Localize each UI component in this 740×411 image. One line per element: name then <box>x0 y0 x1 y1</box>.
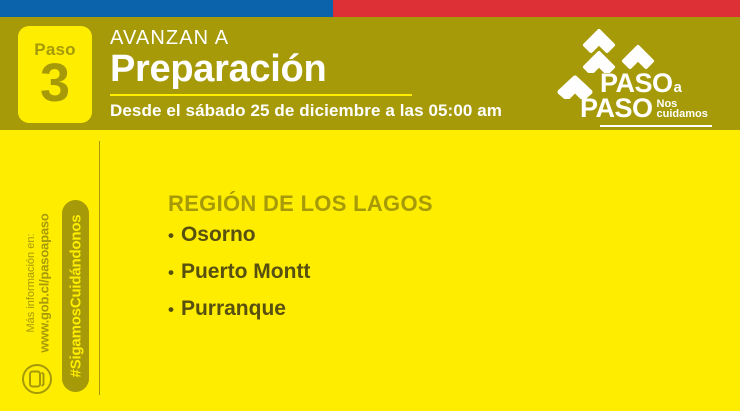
main-content: REGIÓN DE LOS LAGOS • Osorno • Puerto Mo… <box>168 192 688 335</box>
city-name: Osorno <box>181 224 256 245</box>
hashtag-label: #SigamosCuidándonos <box>67 215 84 378</box>
logo-wordmark: PASO a PASO Nos cuidamos <box>558 71 708 121</box>
logo-underline <box>600 125 712 127</box>
hashtag-badge: #SigamosCuidándonos <box>62 200 89 392</box>
rail-vertical-divider <box>99 141 100 395</box>
flag-stripe-blue <box>0 0 333 17</box>
logo-line-two: PASO Nos cuidamos <box>558 96 708 121</box>
paso-a-paso-logo: PASO a PASO Nos cuidamos <box>558 29 718 129</box>
more-info-label: Más información en: <box>25 233 37 332</box>
flag-stripe-red <box>333 0 740 17</box>
logo-paso-bottom: PASO <box>580 96 653 121</box>
paso-a-paso-poster: Paso 3 AVANZAN A Preparación Desde el sá… <box>0 0 740 411</box>
paso-badge-number: 3 <box>40 59 70 109</box>
list-item: • Puerto Montt <box>168 261 688 282</box>
logo-a-connector: a <box>674 80 682 95</box>
header-divider-rule <box>110 94 412 96</box>
page-title: Preparación <box>110 49 550 91</box>
bullet-icon: • <box>168 301 174 318</box>
list-item: • Purranque <box>168 298 688 319</box>
logo-chevron-cluster <box>580 29 675 73</box>
city-name: Purranque <box>181 298 286 319</box>
list-item: • Osorno <box>168 224 688 245</box>
logo-tagline: Nos cuidamos <box>657 99 708 120</box>
flag-stripe <box>0 0 740 17</box>
chevron-up-icon <box>580 29 675 73</box>
more-info-block: Más información en: www.gob.cl/pasoapaso <box>24 198 60 368</box>
header-text-block: AVANZAN A Preparación Desde el sábado 25… <box>110 27 550 120</box>
city-name: Puerto Montt <box>181 261 310 282</box>
document-circle-icon <box>21 363 53 400</box>
header-effective-date: Desde el sábado 25 de diciembre a las 05… <box>110 101 550 121</box>
logo-tagline-line2: cuidamos <box>657 109 708 119</box>
header-band: Paso 3 AVANZAN A Preparación Desde el sá… <box>0 17 740 130</box>
bullet-icon: • <box>168 264 174 281</box>
paso-step-badge: Paso 3 <box>18 26 92 123</box>
city-list: • Osorno • Puerto Montt • Purranque <box>168 224 688 319</box>
header-kicker: AVANZAN A <box>110 27 550 50</box>
region-title: REGIÓN DE LOS LAGOS <box>168 192 688 216</box>
more-info-url[interactable]: www.gob.cl/pasoapaso <box>37 213 52 352</box>
bullet-icon: • <box>168 227 174 244</box>
